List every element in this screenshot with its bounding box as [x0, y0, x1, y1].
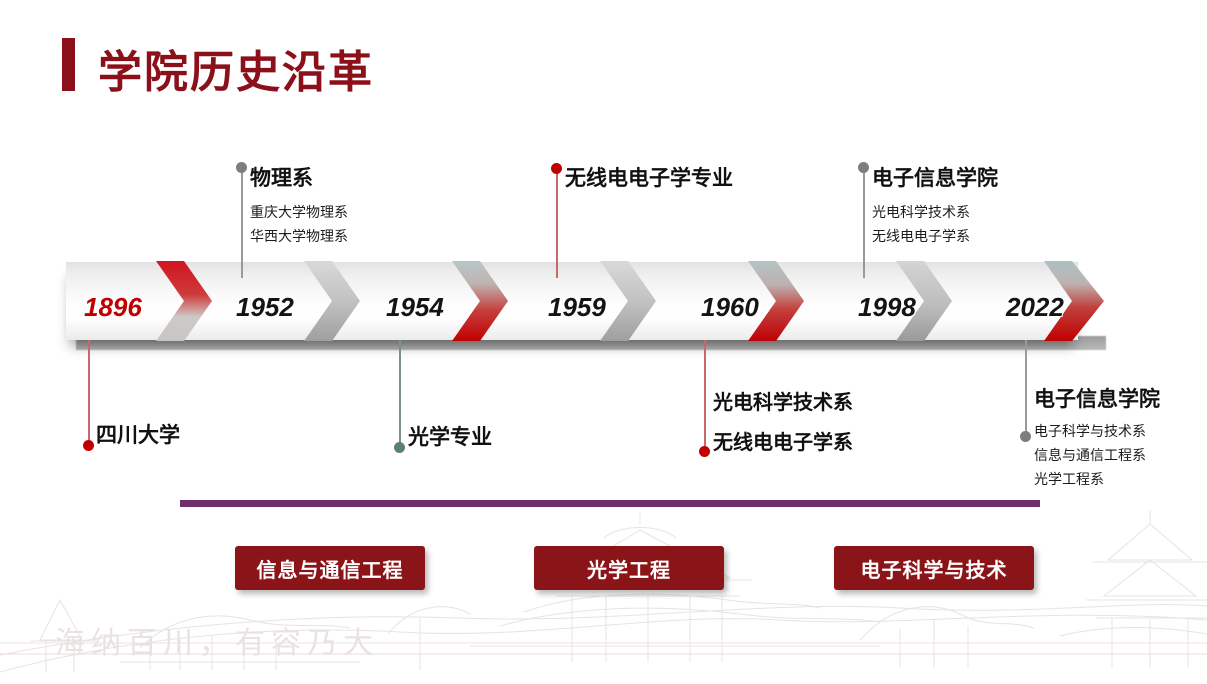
event-1960-line-1: 光电科学技术系 [713, 388, 853, 419]
timeline-year-1959: 1959 [548, 292, 606, 323]
chevron-separator-gray-2 [598, 261, 658, 341]
event-1952-sub-1: 重庆大学物理系 [250, 200, 348, 224]
chevron-separator-gray-1 [302, 261, 362, 341]
connector-dot-2022 [1020, 431, 1031, 442]
connector-stem-2022 [1025, 340, 1027, 436]
chevron-separator-red-2 [450, 261, 510, 341]
discipline-chip-ee[interactable]: 电子科学与技术 [834, 546, 1034, 590]
connector-dot-1960 [699, 446, 710, 457]
event-1952: 物理系 重庆大学物理系 华西大学物理系 [250, 166, 348, 248]
discipline-chip-ice-label: 信息与通信工程 [257, 554, 404, 583]
event-1896-title: 四川大学 [96, 423, 180, 449]
connector-stem-1960 [704, 340, 706, 450]
connector-dot-1959 [551, 163, 562, 174]
timeline-year-1960: 1960 [701, 292, 759, 323]
connector-dot-1896 [83, 440, 94, 451]
event-2022-sub-1: 电子科学与技术系 [1034, 419, 1160, 443]
timeline-year-1896: 1896 [84, 292, 142, 323]
discipline-chip-optics-label: 光学工程 [587, 554, 671, 583]
event-1998-title: 电子信息学院 [872, 166, 998, 192]
event-2022: 电子信息学院 电子科学与技术系 信息与通信工程系 光学工程系 [1034, 387, 1160, 491]
event-1998-sub-2: 无线电电子学系 [872, 224, 998, 248]
discipline-chip-ice[interactable]: 信息与通信工程 [235, 546, 425, 590]
connector-dot-1998 [858, 162, 869, 173]
page-title: 学院历史沿革 [98, 36, 374, 100]
section-divider-rule [180, 500, 1040, 507]
event-1954: 光学专业 [408, 425, 492, 451]
timeline-year-1954: 1954 [386, 292, 444, 323]
connector-stem-1959 [556, 170, 558, 278]
connector-dot-1954 [394, 442, 405, 453]
discipline-chip-ee-label: 电子科学与技术 [861, 554, 1008, 583]
connector-stem-1952 [241, 168, 243, 278]
event-2022-title: 电子信息学院 [1034, 387, 1160, 413]
event-1959-title: 无线电电子学专业 [565, 166, 733, 192]
timeline-year-1998: 1998 [858, 292, 916, 323]
event-2022-sub-2: 信息与通信工程系 [1034, 443, 1160, 467]
event-1954-title: 光学专业 [408, 425, 492, 451]
event-1960-line-2: 无线电电子学系 [713, 428, 853, 459]
event-1959: 无线电电子学专业 [565, 166, 733, 192]
event-1896: 四川大学 [96, 423, 180, 449]
connector-dot-1952 [236, 162, 247, 173]
timeline-year-2022: 2022 [1006, 292, 1064, 323]
watermark-motto: 海纳百川，有容乃大 [55, 618, 379, 662]
event-2022-sub-3: 光学工程系 [1034, 467, 1160, 491]
connector-stem-1998 [863, 168, 865, 278]
event-1952-title: 物理系 [250, 166, 348, 192]
chevron-separator-red-1 [154, 261, 214, 341]
event-1998: 电子信息学院 光电科学技术系 无线电电子学系 [872, 166, 998, 248]
timeline-year-1952: 1952 [236, 292, 294, 323]
connector-stem-1954 [399, 340, 401, 446]
event-1998-sub-1: 光电科学技术系 [872, 200, 998, 224]
event-1960: 光电科学技术系 无线电电子学系 [713, 388, 853, 459]
event-1952-sub-2: 华西大学物理系 [250, 224, 348, 248]
title-accent-bar [62, 38, 75, 91]
discipline-chip-optics[interactable]: 光学工程 [534, 546, 724, 590]
connector-stem-1896 [88, 340, 90, 444]
